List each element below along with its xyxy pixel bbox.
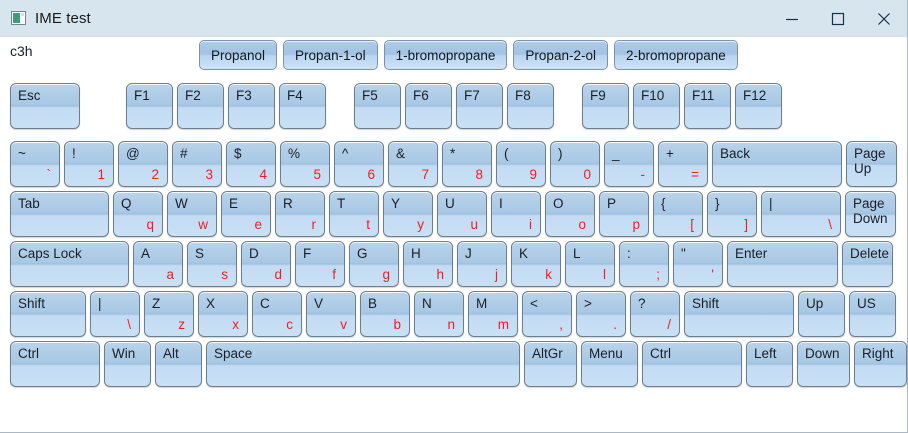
key-label-primary: Down: [805, 346, 840, 361]
key-label-primary: %: [288, 146, 300, 161]
key-label-primary: F9: [590, 88, 606, 103]
key-label-primary: Q: [121, 196, 132, 211]
key-minus[interactable]: _-: [604, 141, 654, 187]
key-f4[interactable]: F4: [279, 83, 326, 129]
key-label-primary: T: [337, 196, 345, 211]
key-label-secondary: w: [198, 218, 208, 232]
key-label-primary: N: [422, 296, 432, 311]
candidate-button[interactable]: 1-bromopropane: [384, 40, 508, 70]
key-label-primary: Page Down: [853, 196, 888, 226]
candidate-button[interactable]: 2-bromopropane: [614, 40, 738, 70]
key-label-primary: ): [558, 146, 563, 161]
key-label-secondary: s: [221, 268, 228, 282]
key-bracket-left[interactable]: {[: [653, 191, 703, 237]
key-label-primary: A: [141, 246, 150, 261]
key-delete[interactable]: Delete: [842, 241, 893, 287]
key-label-primary: H: [411, 246, 421, 261]
key-label-secondary: /: [667, 318, 671, 332]
home-row: Caps LockAaSsDdFfGgHhJjKkLl:;"'EnterDele…: [10, 241, 907, 287]
key-label-primary: Esc: [18, 88, 41, 103]
key-label-secondary: v: [340, 318, 347, 332]
key-label-secondary: c: [286, 318, 293, 332]
window-controls: [769, 0, 907, 37]
key-label-primary: E: [229, 196, 238, 211]
key-label-primary: J: [465, 246, 472, 261]
key-label-secondary: [: [690, 218, 694, 232]
key-quote[interactable]: "': [673, 241, 723, 287]
key-label-primary: F10: [641, 88, 664, 103]
maximize-icon[interactable]: [815, 0, 861, 37]
key-label-secondary: t: [366, 218, 370, 232]
key-label-secondary: 0: [583, 168, 591, 182]
key-label-primary: F2: [185, 88, 201, 103]
key-label-primary: Ctrl: [650, 346, 671, 361]
key-label-primary: Shift: [692, 296, 719, 311]
key-label-secondary: e: [254, 218, 262, 232]
key-key-o[interactable]: Oo: [545, 191, 595, 237]
key-label-primary: Tab: [18, 196, 40, 211]
key-label-primary: |: [98, 296, 102, 311]
minimize-icon[interactable]: [769, 0, 815, 37]
key-label-primary: +: [666, 146, 674, 161]
key-label-primary: @: [126, 146, 140, 161]
key-f3[interactable]: F3: [228, 83, 275, 129]
key-semicolon[interactable]: :;: [619, 241, 669, 287]
candidate-button[interactable]: Propan-1-ol: [283, 40, 378, 70]
key-space[interactable]: Space: [206, 341, 520, 387]
candidate-list: PropanolPropan-1-ol1-bromopropanePropan-…: [199, 40, 738, 70]
key-label-secondary: 7: [421, 168, 429, 182]
shift-row: Shift|\ZzXxCcVvBbNnMm<,>.?/ShiftUpUS: [10, 291, 907, 337]
key-label-secondary: r: [312, 218, 317, 232]
key-label-secondary: h: [436, 268, 444, 282]
key-label-primary: O: [553, 196, 564, 211]
key-f10[interactable]: F10: [633, 83, 680, 129]
key-f6[interactable]: F6: [405, 83, 452, 129]
key-key-j[interactable]: Jj: [457, 241, 507, 287]
key-label-secondary: ]: [744, 218, 748, 232]
key-label-primary: Left: [754, 346, 777, 361]
key-label-primary: Menu: [589, 346, 623, 361]
key-label-primary: Enter: [735, 246, 767, 261]
key-label-primary: X: [206, 296, 215, 311]
key-caps-lock[interactable]: Caps Lock: [10, 241, 129, 287]
key-label-primary: Delete: [850, 246, 889, 261]
key-key-w[interactable]: Ww: [167, 191, 217, 237]
key-label-primary: Z: [152, 296, 160, 311]
key-alt-left[interactable]: Alt: [155, 341, 202, 387]
key-label-secondary: 8: [475, 168, 483, 182]
key-label-primary: V: [314, 296, 323, 311]
key-f11[interactable]: F11: [684, 83, 731, 129]
key-label-primary: W: [175, 196, 188, 211]
key-f2[interactable]: F2: [177, 83, 224, 129]
key-key-q[interactable]: Qq: [113, 191, 163, 237]
key-backslash-iso[interactable]: |\: [90, 291, 140, 337]
key-label-primary: F8: [515, 88, 531, 103]
key-label-secondary: q: [146, 218, 154, 232]
key-label-primary: S: [195, 246, 204, 261]
key-label-secondary: 3: [205, 168, 213, 182]
key-label-primary: U: [445, 196, 455, 211]
key-label-primary: Up: [806, 296, 823, 311]
title-bar: IME test: [0, 0, 907, 37]
key-label-primary: F1: [134, 88, 150, 103]
key-shift-left[interactable]: Shift: [10, 291, 86, 337]
key-label-secondary: o: [578, 218, 586, 232]
key-label-primary: Back: [720, 146, 750, 161]
key-digit-7[interactable]: &7: [388, 141, 438, 187]
key-key-y[interactable]: Yy: [383, 191, 433, 237]
key-f5[interactable]: F5: [354, 83, 401, 129]
key-key-a[interactable]: Aa: [133, 241, 183, 287]
key-key-f[interactable]: Ff: [295, 241, 345, 287]
key-label-primary: D: [249, 246, 259, 261]
key-label-primary: Ctrl: [18, 346, 39, 361]
key-digit-5[interactable]: %5: [280, 141, 330, 187]
key-enter[interactable]: Enter: [727, 241, 838, 287]
key-label-primary: Caps Lock: [18, 246, 82, 261]
key-arrow-down[interactable]: Down: [797, 341, 850, 387]
key-label-primary: ~: [18, 146, 26, 161]
key-menu[interactable]: Menu: [581, 341, 638, 387]
key-comma[interactable]: <,: [522, 291, 572, 337]
app-window-icon: [11, 11, 26, 25]
key-label-primary: B: [368, 296, 377, 311]
key-f1[interactable]: F1: [126, 83, 173, 129]
key-label-primary: F3: [236, 88, 252, 103]
key-label-primary: $: [234, 146, 242, 161]
key-label-primary: (: [504, 146, 509, 161]
key-digit-1[interactable]: !1: [64, 141, 114, 187]
key-label-primary: F4: [287, 88, 303, 103]
key-label-secondary: i: [529, 218, 532, 232]
key-key-k[interactable]: Kk: [511, 241, 561, 287]
key-key-b[interactable]: Bb: [360, 291, 410, 337]
key-key-z[interactable]: Zz: [144, 291, 194, 337]
key-label-secondary: ': [711, 268, 714, 282]
key-label-primary: F12: [743, 88, 766, 103]
key-label-primary: Shift: [18, 296, 45, 311]
key-backslash[interactable]: |\: [761, 191, 841, 237]
ime-test-window: IME test c3h PropanolPropan-1-ol1-bromop…: [0, 0, 908, 433]
key-label-primary: #: [180, 146, 188, 161]
key-label-secondary: k: [545, 268, 552, 282]
key-page-up[interactable]: Page Up: [846, 141, 897, 187]
key-key-v[interactable]: Vv: [306, 291, 356, 337]
key-label-secondary: y: [417, 218, 424, 232]
key-label-secondary: ,: [559, 318, 563, 332]
key-shift-right[interactable]: Shift: [684, 291, 794, 337]
key-win[interactable]: Win: [104, 341, 151, 387]
key-f12[interactable]: F12: [735, 83, 782, 129]
key-arrow-left[interactable]: Left: [746, 341, 793, 387]
key-label-secondary: ;: [656, 268, 660, 282]
key-label-secondary: g: [382, 268, 390, 282]
key-slash[interactable]: ?/: [630, 291, 680, 337]
key-label-secondary: a: [166, 268, 174, 282]
key-label-primary: AltGr: [532, 346, 563, 361]
key-key-s[interactable]: Ss: [187, 241, 237, 287]
key-ctrl-right[interactable]: Ctrl: [642, 341, 742, 387]
composition-text: c3h: [10, 43, 33, 59]
key-label-primary: }: [715, 196, 720, 211]
key-label-primary: Space: [214, 346, 252, 361]
key-label-primary: !: [72, 146, 76, 161]
virtual-keyboard: EscF1F2F3F4F5F6F7F8F9F10F11F12~`!1@2#3$4…: [0, 79, 907, 387]
key-label-secondary: z: [178, 318, 185, 332]
key-key-m[interactable]: Mm: [468, 291, 518, 337]
key-digit-4[interactable]: $4: [226, 141, 276, 187]
key-period[interactable]: >.: [576, 291, 626, 337]
key-label-secondary: p: [632, 218, 640, 232]
key-label-secondary: n: [447, 318, 455, 332]
key-label-secondary: m: [498, 318, 509, 332]
key-digit-2[interactable]: @2: [118, 141, 168, 187]
key-layout-us[interactable]: US: [849, 291, 896, 337]
key-key-d[interactable]: Dd: [241, 241, 291, 287]
key-label-secondary: 6: [367, 168, 375, 182]
key-digit-3[interactable]: #3: [172, 141, 222, 187]
key-label-primary: R: [283, 196, 293, 211]
key-label-primary: {: [661, 196, 666, 211]
key-key-x[interactable]: Xx: [198, 291, 248, 337]
key-label-secondary: -: [641, 168, 646, 182]
key-key-h[interactable]: Hh: [403, 241, 453, 287]
key-equal[interactable]: +=: [658, 141, 708, 187]
key-label-primary: F: [303, 246, 311, 261]
function-row: EscF1F2F3F4F5F6F7F8F9F10F11F12: [10, 83, 907, 129]
key-label-primary: ^: [342, 146, 348, 161]
key-digit-6[interactable]: ^6: [334, 141, 384, 187]
key-key-g[interactable]: Gg: [349, 241, 399, 287]
key-label-primary: Alt: [163, 346, 179, 361]
key-arrow-up[interactable]: Up: [798, 291, 845, 337]
key-label-primary: M: [476, 296, 487, 311]
key-label-primary: Page Up: [854, 146, 886, 176]
key-key-l[interactable]: Ll: [565, 241, 615, 287]
key-digit-0[interactable]: )0: [550, 141, 600, 187]
key-label-secondary: \: [127, 318, 131, 332]
key-label-secondary: d: [274, 268, 282, 282]
key-label-secondary: 4: [259, 168, 267, 182]
key-label-primary: |: [769, 196, 773, 211]
key-label-secondary: b: [393, 318, 401, 332]
key-bracket-right[interactable]: }]: [707, 191, 757, 237]
key-key-r[interactable]: Rr: [275, 191, 325, 237]
key-key-p[interactable]: Pp: [599, 191, 649, 237]
key-tab[interactable]: Tab: [10, 191, 109, 237]
key-key-c[interactable]: Cc: [252, 291, 302, 337]
key-label-primary: &: [396, 146, 405, 161]
key-label-secondary: 1: [97, 168, 105, 182]
key-label-secondary: f: [332, 268, 336, 282]
qwerty-row: TabQqWwEeRrTtYyUuIiOoPp{[}]|\Page Down: [10, 191, 907, 237]
key-label-primary: ": [681, 246, 686, 261]
key-esc[interactable]: Esc: [10, 83, 80, 129]
ime-composition-row: c3h PropanolPropan-1-ol1-bromopropanePro…: [0, 37, 907, 79]
key-label-primary: F7: [464, 88, 480, 103]
key-label-secondary: `: [47, 168, 52, 182]
key-backspace[interactable]: Back: [712, 141, 842, 187]
key-digit-8[interactable]: *8: [442, 141, 492, 187]
key-key-u[interactable]: Uu: [437, 191, 487, 237]
key-ctrl-left[interactable]: Ctrl: [10, 341, 100, 387]
key-f8[interactable]: F8: [507, 83, 554, 129]
key-label-primary: Y: [391, 196, 400, 211]
key-label-primary: G: [357, 246, 368, 261]
key-label-primary: F11: [692, 88, 714, 103]
key-key-e[interactable]: Ee: [221, 191, 271, 237]
key-label-secondary: =: [691, 168, 699, 182]
key-f9[interactable]: F9: [582, 83, 629, 129]
key-arrow-right[interactable]: Right: [854, 341, 907, 387]
key-label-primary: :: [627, 246, 631, 261]
key-label-secondary: l: [603, 268, 606, 282]
key-label-primary: I: [499, 196, 503, 211]
key-label-primary: L: [573, 246, 581, 261]
key-label-primary: P: [607, 196, 616, 211]
key-label-primary: F6: [413, 88, 429, 103]
key-f7[interactable]: F7: [456, 83, 503, 129]
key-page-down[interactable]: Page Down: [845, 191, 896, 237]
key-label-secondary: j: [495, 268, 498, 282]
key-label-primary: <: [530, 296, 538, 311]
key-label-primary: US: [857, 296, 876, 311]
number-row: ~`!1@2#3$4%5^6&7*8(9)0_-+=BackPage Up: [10, 141, 907, 187]
key-alt-gr[interactable]: AltGr: [524, 341, 577, 387]
key-key-i[interactable]: Ii: [491, 191, 541, 237]
key-label-secondary: 2: [151, 168, 159, 182]
key-label-primary: *: [450, 146, 455, 161]
key-label-secondary: u: [470, 218, 478, 232]
key-label-secondary: x: [232, 318, 239, 332]
key-digit-9[interactable]: (9: [496, 141, 546, 187]
close-icon[interactable]: [861, 0, 907, 37]
key-label-primary: Right: [862, 346, 894, 361]
bottom-row: CtrlWinAltSpaceAltGrMenuCtrlLeftDownRigh…: [10, 341, 907, 387]
key-label-primary: >: [584, 296, 592, 311]
key-label-secondary: .: [613, 318, 617, 332]
key-label-primary: F5: [362, 88, 378, 103]
key-label-primary: _: [612, 146, 620, 161]
candidate-button[interactable]: Propanol: [199, 40, 277, 70]
page-title: IME test: [35, 10, 91, 27]
key-label-primary: ?: [638, 296, 646, 311]
key-label-primary: C: [260, 296, 270, 311]
key-key-t[interactable]: Tt: [329, 191, 379, 237]
key-label-primary: K: [519, 246, 528, 261]
key-backquote[interactable]: ~`: [10, 141, 60, 187]
key-label-secondary: 5: [313, 168, 321, 182]
candidate-button[interactable]: Propan-2-ol: [513, 40, 608, 70]
key-key-n[interactable]: Nn: [414, 291, 464, 337]
key-label-primary: Win: [112, 346, 135, 361]
key-label-secondary: \: [828, 218, 832, 232]
key-label-secondary: 9: [529, 168, 537, 182]
